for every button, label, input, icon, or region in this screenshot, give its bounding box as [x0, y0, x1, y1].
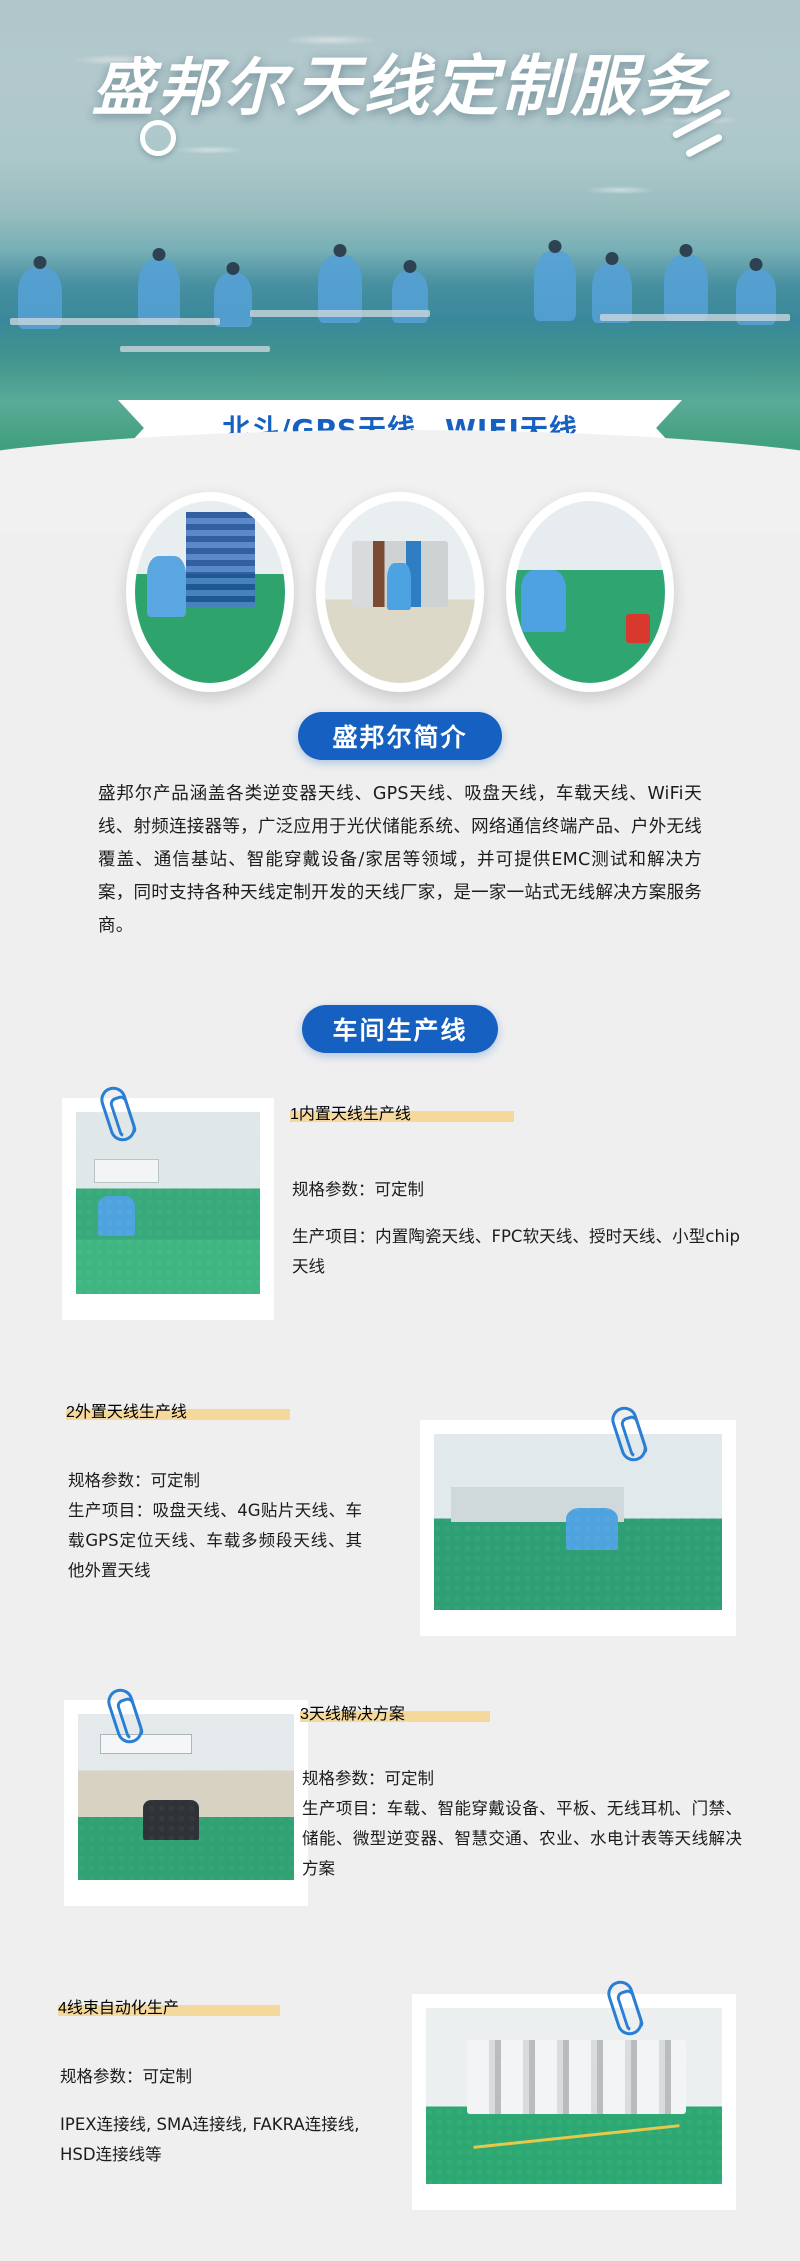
production-item-2-items-label: 生产项目：	[68, 1501, 153, 1520]
gallery-oval-1	[126, 492, 294, 692]
production-item-1-spec-value: 可定制	[375, 1180, 425, 1199]
internal-antenna-line-photo	[76, 1112, 260, 1294]
production-item-3-spec: 规格参数：可定制	[302, 1764, 742, 1794]
intro-pill-container: 盛邦尔简介	[0, 712, 800, 760]
production-item-1-heading: 1 内置天线生产线	[290, 1100, 411, 1124]
production-item-3-title: 天线解决方案	[309, 1700, 405, 1724]
production-item-1-items-label: 生产项目：	[292, 1227, 375, 1246]
production-item-4-spec-value: 可定制	[143, 2067, 193, 2086]
production-item-3-heading: 3 天线解决方案	[300, 1700, 405, 1724]
production-item-1-items: 生产项目：内置陶瓷天线、FPC软天线、授时天线、小型chip天线	[292, 1222, 740, 1282]
intro-paragraph: 盛邦尔产品涵盖各类逆变器天线、GPS天线、吸盘天线，车载天线、WiFi天线、射频…	[98, 778, 702, 943]
poster-page: 盛邦尔 天线定制服务 北斗/GPS天线、WIFI天线 盛邦尔简介 盛邦尔产品涵盖…	[0, 0, 800, 2261]
speed-lines-decoration-icon	[650, 96, 740, 158]
production-item-1-spec: 规格参数：可定制	[292, 1175, 742, 1205]
external-antenna-line-photo	[434, 1434, 722, 1610]
production-item-4-heading: 4 线束自动化生产	[58, 1994, 179, 2018]
production-item-2-items: 生产项目：吸盘天线、4G贴片天线、车载GPS定位天线、车载多频段天线、其他外置天…	[68, 1496, 362, 1586]
production-item-3-photo-card	[64, 1700, 308, 1906]
production-item-2-heading: 2 外置天线生产线	[66, 1398, 187, 1422]
circle-decoration-icon	[140, 120, 176, 156]
production-item-3-spec-value: 可定制	[385, 1769, 435, 1788]
production-item-4-items-value: IPEX连接线, SMA连接线, FAKRA连接线, HSD连接线等	[60, 2115, 359, 2164]
production-item-2-spec-label: 规格参数：	[68, 1471, 151, 1490]
production-item-2-spec-value: 可定制	[151, 1471, 201, 1490]
production-item-3-number: 3	[300, 1706, 309, 1724]
production-item-3-spec-label: 规格参数：	[302, 1769, 385, 1788]
antenna-solution-photo	[78, 1714, 294, 1880]
oval-photo-gallery	[0, 492, 800, 692]
hero-headline: 天线定制服务	[294, 52, 708, 121]
production-item-1-number: 1	[290, 1106, 299, 1124]
production-item-3-items: 生产项目：车载、智能穿戴设备、平板、无线耳机、门禁、储能、微型逆变器、智慧交通、…	[302, 1794, 742, 1884]
production-item-4-number: 4	[58, 2000, 67, 2018]
wire-harness-automation-photo	[426, 2008, 722, 2184]
production-item-4-photo-card	[412, 1994, 736, 2210]
production-item-2-title: 外置天线生产线	[75, 1398, 187, 1422]
gallery-oval-3	[506, 492, 674, 692]
production-item-4-items: IPEX连接线, SMA连接线, FAKRA连接线, HSD连接线等	[60, 2110, 360, 2170]
production-pill-container: 车间生产线	[0, 1005, 800, 1053]
production-item-2-spec: 规格参数：可定制	[68, 1466, 368, 1496]
production-item-1-spec-label: 规格参数：	[292, 1180, 375, 1199]
production-item-2-number: 2	[66, 1404, 75, 1422]
brand-name: 盛邦尔	[92, 55, 290, 120]
production-item-1-title: 内置天线生产线	[299, 1100, 411, 1124]
production-section-pill: 车间生产线	[302, 1005, 498, 1053]
gallery-oval-2	[316, 492, 484, 692]
production-item-4-spec: 规格参数：可定制	[60, 2062, 360, 2092]
hero-banner: 盛邦尔 天线定制服务 北斗/GPS天线、WIFI天线	[0, 0, 800, 470]
production-item-4-title: 线束自动化生产	[67, 1994, 179, 2018]
production-item-4-spec-label: 规格参数：	[60, 2067, 143, 2086]
production-item-2-photo-card	[420, 1420, 736, 1636]
production-item-3-items-label: 生产项目：	[302, 1799, 387, 1818]
intro-section-pill: 盛邦尔简介	[298, 712, 502, 760]
production-item-1-photo-card	[62, 1098, 274, 1320]
